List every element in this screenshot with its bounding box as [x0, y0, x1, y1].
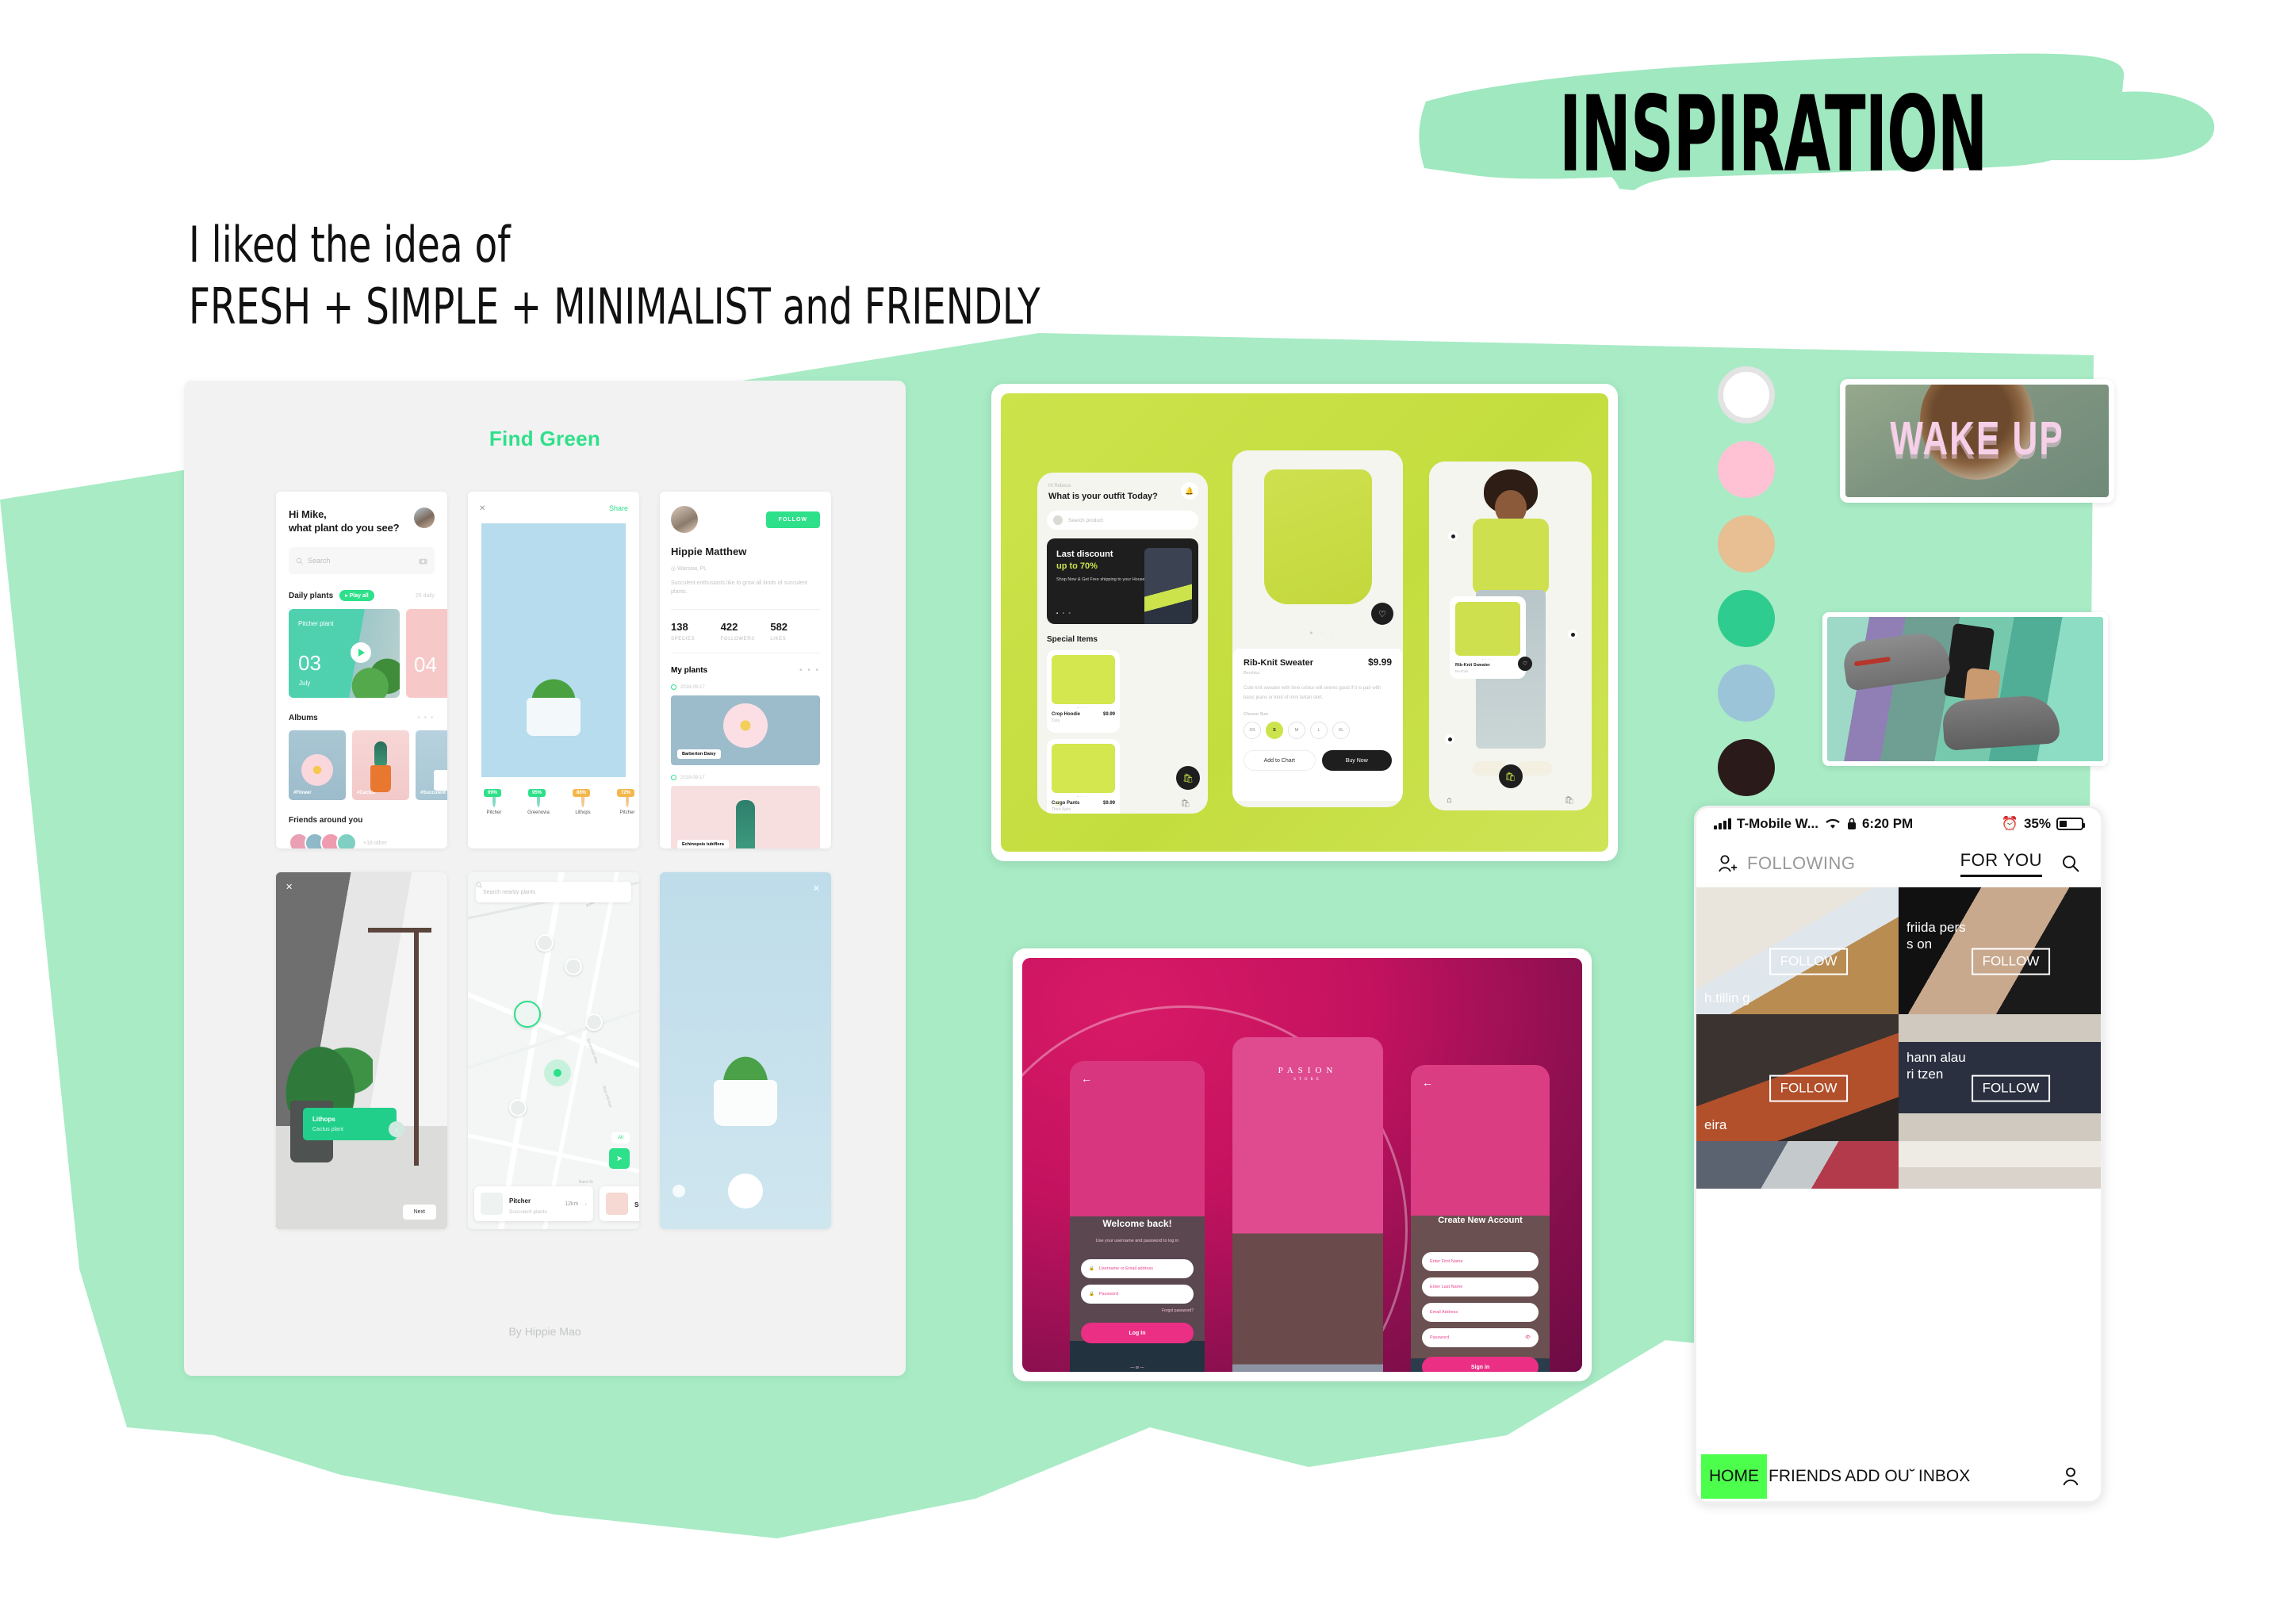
fashion-product-brand: Bershka	[1244, 671, 1392, 676]
fg-ar-plant-type: Cactus plant	[312, 1127, 387, 1132]
map-pin[interactable]	[509, 1099, 527, 1116]
fg-profile-stats: 138SPECIES 422FOLLOWERS 582LIKES	[671, 609, 820, 653]
fashion-product-description: Cute knit sweater with lime colour will …	[1244, 684, 1392, 703]
fg-map-results: Pitcher Succulent plants 12km › Succulen…	[474, 1186, 639, 1221]
first-name-field[interactable]: Enter First Name	[1422, 1252, 1539, 1271]
map-pin-selected[interactable]	[514, 1001, 541, 1028]
time-label: 6:20 PM	[1862, 816, 1913, 832]
fg-section-friends: Friends around you	[289, 816, 435, 825]
feed-cell[interactable]: friida perss on FOLLOW	[1899, 887, 2101, 1014]
fashion-product-name: Rib-Knit Sweater	[1244, 658, 1313, 668]
fg-ar-tooltip[interactable]: Lithops Cactus plant ›	[303, 1108, 397, 1140]
fashion-bottom-nav[interactable]: ⌂ 🛍	[1429, 790, 1592, 810]
carousel-dots[interactable]: ▪ ▫ ▫	[1056, 611, 1072, 616]
password-field[interactable]: 🔒 Password	[1081, 1285, 1194, 1304]
signup-submit-button[interactable]: Sign in	[1422, 1357, 1539, 1372]
pasion-screen-landing[interactable]: PASION STORE Sign In Sign Up Dui et eget…	[1232, 1037, 1383, 1372]
fashion-model-product-card[interactable]: ▪▫▫▫ Rib-Knit Sweater Bershka ♡	[1450, 596, 1526, 679]
pasion-logo: PASION STORE	[1232, 1066, 1383, 1082]
fg-match-item[interactable]: 86% Lithops	[565, 792, 601, 815]
fashion-choose-size-label: Choose Size	[1244, 712, 1392, 717]
fg-plant-photo	[477, 519, 630, 781]
login-button[interactable]: Log In	[1081, 1323, 1194, 1343]
username-field[interactable]: 🔒 Username or Email address	[1081, 1259, 1194, 1278]
follow-button[interactable]: FOLLOW	[766, 511, 820, 528]
find-green-mockup-panel[interactable]: Find Green Hi Mike, what plant do you se…	[184, 381, 906, 1376]
locate-icon[interactable]: ➤	[609, 1148, 630, 1169]
fg-daily-card-1[interactable]: Pitcher plant 03 July	[289, 609, 400, 698]
more-icon[interactable]: • • •	[418, 715, 435, 721]
fg-profile-location: ◎ Warsaw, PL	[671, 565, 820, 572]
fg-greeting-line1: Hi Mike,	[289, 507, 435, 521]
fashion-promo-banner[interactable]: Last discount up to 70% Shop Now & Get F…	[1047, 538, 1198, 624]
stat-species: 138SPECIES	[671, 621, 721, 642]
camera-icon[interactable]	[419, 557, 427, 565]
home-icon[interactable]: ⌂	[1055, 799, 1060, 808]
fg-screen-profile[interactable]: FOLLOW Hippie Matthew ◎ Warsaw, PL Succu…	[660, 492, 831, 848]
search-icon	[296, 557, 303, 565]
follow-button[interactable]: FOLLOW	[1769, 948, 1849, 975]
avatar[interactable]	[671, 506, 698, 533]
pasion-welcome-title: Welcome back!	[1070, 1218, 1205, 1229]
size-option-s[interactable]: S	[1266, 722, 1283, 739]
home-icon[interactable]: ⌂	[1447, 795, 1452, 805]
social-app-phone[interactable]: T-Mobile W... 6:20 PM ⏰ 35% FOLLOWING	[1694, 806, 2103, 1503]
tab-following[interactable]: FOLLOWING	[1747, 853, 1856, 874]
password-field[interactable]: Password👁	[1422, 1328, 1539, 1347]
fg-match-item[interactable]: 99% Pitcher	[476, 792, 512, 815]
headline-line-1: I liked the idea of	[189, 214, 1040, 276]
play-icon[interactable]	[351, 642, 371, 663]
pasion-screen-signup[interactable]: ← Create New Account Enter First Name En…	[1411, 1065, 1550, 1372]
stat-followers: 422FOLLOWERS	[721, 621, 771, 642]
fashion-screen-home[interactable]: Hi Rebeca What is your outfit Today? 🔔 S…	[1037, 473, 1208, 814]
heart-icon[interactable]: ♡	[1518, 657, 1532, 671]
fg-profile-bio: Succulent enthusiasts like to grow all k…	[671, 579, 820, 596]
pasion-screen-login[interactable]: ← Welcome back! Use your username and pa…	[1070, 1061, 1205, 1372]
fg-map-result-card[interactable]: Pitcher Succulent plants 12km ›	[474, 1186, 593, 1221]
fg-daily-count: 25 daily	[416, 593, 435, 599]
swatch-light-blue[interactable]	[1718, 665, 1775, 722]
page-title: INSPIRATION	[1559, 75, 1987, 196]
feed-tabs[interactable]: FOLLOWING FOR YOU	[1696, 840, 2101, 887]
fashion-search-input[interactable]: Search product	[1047, 511, 1198, 530]
fashion-app-mockup-panel[interactable]: Hi Rebeca What is your outfit Today? 🔔 S…	[991, 384, 1618, 861]
fg-match-list: 99% Pitcher 95% Greenovia 86% Lithops	[468, 781, 639, 815]
fg-card1-name: Pitcher plant	[298, 620, 333, 627]
size-option-xs[interactable]: XS	[1244, 722, 1261, 739]
swatch-green[interactable]	[1718, 590, 1775, 647]
stat-likes: 582LIKES	[770, 621, 820, 642]
headline-line-2: FRESH + SIMPLE + MINIMALIST and FRIENDLY	[189, 276, 1040, 338]
fg-card1-day: 03	[298, 651, 321, 676]
chevron-right-icon[interactable]: ›	[389, 1121, 404, 1137]
fg-section-daily: Daily plants	[289, 592, 333, 600]
alarm-icon: ⏰	[2002, 816, 2018, 832]
bag-icon[interactable]: 🛍	[1564, 796, 1574, 805]
fg-match-item[interactable]: 72% Pitcher	[609, 792, 639, 815]
find-green-screens-grid: Hi Mike, what plant do you see? Search D…	[276, 492, 831, 1229]
fg-screen-map[interactable]: American Legion Hwy Sycamore Way Blue Hi…	[468, 872, 639, 1229]
swatch-pink[interactable]	[1718, 441, 1775, 498]
map-current-location	[544, 1059, 571, 1086]
fashion-product-image: · ● · · ♡	[1232, 450, 1403, 649]
map-pin[interactable]	[585, 1013, 603, 1031]
wifi-icon	[1824, 818, 1841, 830]
bottom-nav-bar[interactable]: HOME FRIENDS ADD OU˘ INBOX	[1696, 1452, 2101, 1501]
feed-cell[interactable]	[1899, 1141, 2101, 1189]
swatch-dark-brown[interactable]	[1718, 739, 1775, 796]
fg-greeting-line2: what plant do you see?	[289, 521, 435, 534]
follow-button[interactable]: FOLLOW	[1769, 1075, 1849, 1102]
back-arrow-icon[interactable]: ←	[1422, 1076, 1433, 1089]
fg-albums: #Flower #Cactus #Succulent	[289, 730, 435, 800]
fashion-size-selector[interactable]: XS S M L XL	[1244, 722, 1392, 739]
feed-grid: h.tillin g FOLLOW friida perss on FOLLOW…	[1696, 887, 2101, 1189]
battery-icon	[2056, 818, 2083, 830]
fg-album-succulent[interactable]: #Succulent	[416, 730, 447, 800]
fg-map-search-placeholder: Search nearby plants	[483, 890, 535, 895]
fg-post-image[interactable]: Echinopsis tubiflora	[671, 786, 820, 848]
fg-album-cactus[interactable]: #Cactus	[352, 730, 409, 800]
nav-home[interactable]: HOME	[1701, 1454, 1767, 1499]
avatar[interactable]	[336, 833, 357, 848]
fg-map-result-card[interactable]: Succulent	[600, 1186, 639, 1221]
close-icon[interactable]: ✕	[813, 883, 820, 894]
find-green-title: Find Green	[184, 427, 906, 451]
fg-card1-month: July	[299, 680, 310, 687]
fashion-screen-product[interactable]: · ● · · ♡ Rib-Knit Sweater $9.99 Bershka…	[1232, 450, 1403, 807]
follow-button[interactable]: FOLLOW	[1972, 1075, 2051, 1102]
add-to-cart-button[interactable]: Add to Chart	[1244, 750, 1316, 771]
fg-screen-camera[interactable]: ✕	[660, 872, 831, 1229]
feed-cell[interactable]: eira FOLLOW	[1696, 1014, 1899, 1141]
find-green-row-top: Hi Mike, what plant do you see? Search D…	[276, 492, 831, 848]
swatch-white[interactable]	[1718, 366, 1775, 423]
size-option-xl[interactable]: XL	[1332, 722, 1350, 739]
carrier-label: T-Mobile W...	[1737, 816, 1818, 832]
map-roads: American Legion Hwy Sycamore Way Blue Hi…	[468, 872, 639, 1229]
eye-icon[interactable]: 👁	[1525, 1335, 1531, 1340]
fg-share-button[interactable]: Share	[609, 504, 628, 513]
map-pin[interactable]	[536, 934, 554, 952]
profile-icon[interactable]	[2060, 1465, 2082, 1488]
fg-post-tag: Barberton Daisy	[677, 749, 721, 759]
fg-match-item[interactable]: 95% Greenovia	[520, 792, 557, 815]
fg-friends-more: +18 other	[363, 841, 387, 846]
fg-section-my-plants: My plants	[671, 666, 707, 675]
page-title-block: INSPIRATION	[1412, 40, 2252, 190]
fashion-item-card[interactable]: ▪▫▫▫ Crop Hoodie$9.99 Zara	[1047, 650, 1120, 733]
fg-search-input[interactable]: Search	[289, 547, 435, 574]
fg-play-all-chip[interactable]: ▸ Play all	[339, 590, 374, 601]
pasion-signup-title: Create New Account	[1411, 1216, 1550, 1225]
search-icon[interactable]	[2061, 854, 2080, 873]
pasion-or-divider: — or —	[1070, 1365, 1205, 1370]
headline: I liked the idea of FRESH + SIMPLE + MIN…	[189, 214, 1202, 338]
fg-post-tag: Echinopsis tubiflora	[677, 840, 729, 848]
color-palette	[1718, 366, 1775, 814]
search-icon	[476, 882, 482, 888]
swatch-tan[interactable]	[1718, 515, 1775, 573]
fashion-section-special: Special Items	[1037, 624, 1208, 644]
fg-map-search-input[interactable]: Search nearby plants	[476, 882, 631, 902]
fg-screen-home[interactable]: Hi Mike, what plant do you see? Search D…	[276, 492, 447, 848]
flash-icon[interactable]	[673, 1185, 685, 1197]
fg-section-albums: Albums	[289, 714, 318, 722]
add-friend-icon[interactable]	[1717, 853, 1738, 874]
battery-percent: 35%	[2024, 816, 2051, 832]
more-icon[interactable]: • • •	[799, 666, 820, 675]
close-icon[interactable]: ✕	[285, 882, 293, 892]
avatar[interactable]	[414, 507, 435, 528]
fg-post-date: 2018-09-17	[671, 684, 820, 690]
fashion-screen-model[interactable]: ▪▫▫▫ Rib-Knit Sweater Bershka ♡ 🛍 ⌂ 🛍	[1429, 462, 1592, 810]
fg-ar-plant-name: Lithops	[312, 1116, 387, 1123]
fg-screen-identify[interactable]: ✕ Share 99% Pitcher 95% Greenovia	[468, 492, 639, 848]
map-pin[interactable]	[565, 958, 582, 975]
lock-icon	[1847, 818, 1857, 830]
fashion-bottom-nav[interactable]: ⌂ 🛍	[1037, 793, 1208, 814]
hotspot-icon[interactable]	[1445, 734, 1454, 744]
nav-add-out[interactable]: ADD OU˘	[1843, 1467, 1917, 1486]
fashion-product-price: $9.99	[1368, 657, 1392, 668]
tab-for-you[interactable]: FOR YOU	[1960, 850, 2042, 877]
hotspot-icon[interactable]	[1448, 531, 1458, 541]
fg-post-image[interactable]: Barberton Daisy	[671, 695, 820, 765]
poster-canvas: INSPIRATION I liked the idea of FRESH + …	[0, 0, 2284, 1624]
wake-up-image-card[interactable]: WAKE UP	[1840, 379, 2114, 503]
size-option-m[interactable]: M	[1288, 722, 1305, 739]
size-option-l[interactable]: L	[1310, 722, 1328, 739]
find-green-row-bottom: ✕ Lithops Cactus plant › Next	[276, 872, 831, 1229]
heart-icon[interactable]: ♡	[1371, 603, 1393, 625]
pasion-app-mockup-panel[interactable]: ← Welcome back! Use your username and pa…	[1013, 948, 1592, 1381]
bag-icon[interactable]: 🛍	[1180, 799, 1190, 808]
fg-friends-section: Friends around you +18 other	[289, 816, 435, 848]
cart-icon[interactable]: 🛍	[1176, 766, 1200, 790]
svg-text:Baird St: Baird St	[579, 1180, 593, 1185]
bell-icon[interactable]: 🔔	[1181, 482, 1198, 500]
find-green-credit: By Hippie Mao	[184, 1325, 906, 1338]
sneaker-image-card[interactable]	[1822, 612, 2108, 766]
nav-friends[interactable]: FRIENDS	[1767, 1467, 1843, 1486]
feed-cell[interactable]	[1696, 1141, 1899, 1189]
pasion-welcome-sub: Use your username and password to log in	[1081, 1239, 1194, 1243]
fg-post-date: 2018-09-17	[671, 775, 820, 780]
cart-icon[interactable]: 🛍	[1499, 764, 1523, 788]
nav-inbox[interactable]: INBOX	[1917, 1467, 1972, 1486]
fg-profile-name: Hippie Matthew	[671, 546, 820, 557]
fg-map-alt-button[interactable]: Alt	[611, 1132, 630, 1143]
close-icon[interactable]: ✕	[479, 504, 485, 513]
last-name-field[interactable]: Enter Last Name	[1422, 1277, 1539, 1297]
buy-now-button[interactable]: Buy Now	[1322, 750, 1393, 771]
signal-icon	[1714, 818, 1731, 829]
forgot-password-link[interactable]: Forgot password?	[1081, 1308, 1194, 1313]
fg-next-button[interactable]: Next	[403, 1205, 436, 1220]
fg-daily-cards: Pitcher plant 03 July 04	[289, 609, 435, 698]
fg-album-flower[interactable]: #Flower	[289, 730, 346, 800]
fg-screen-ar-camera[interactable]: ✕ Lithops Cactus plant › Next	[276, 872, 447, 1229]
wake-up-text: WAKE UP	[1845, 412, 2109, 466]
feed-cell[interactable]: hann alauri tzen FOLLOW	[1899, 1014, 2101, 1141]
feed-cell[interactable]: h.tillin g FOLLOW	[1696, 887, 1899, 1014]
fg-card2-day: 04	[414, 653, 437, 677]
fg-daily-card-2[interactable]: 04	[406, 609, 447, 698]
back-arrow-icon[interactable]: ←	[1081, 1072, 1092, 1085]
email-field[interactable]: Email Address	[1422, 1303, 1539, 1322]
hotspot-icon[interactable]	[1568, 630, 1577, 639]
carousel-dots[interactable]: · ● · ·	[1232, 630, 1403, 636]
follow-button[interactable]: FOLLOW	[1972, 948, 2051, 975]
shutter-button[interactable]	[728, 1174, 763, 1208]
fg-search-placeholder: Search	[308, 557, 331, 565]
